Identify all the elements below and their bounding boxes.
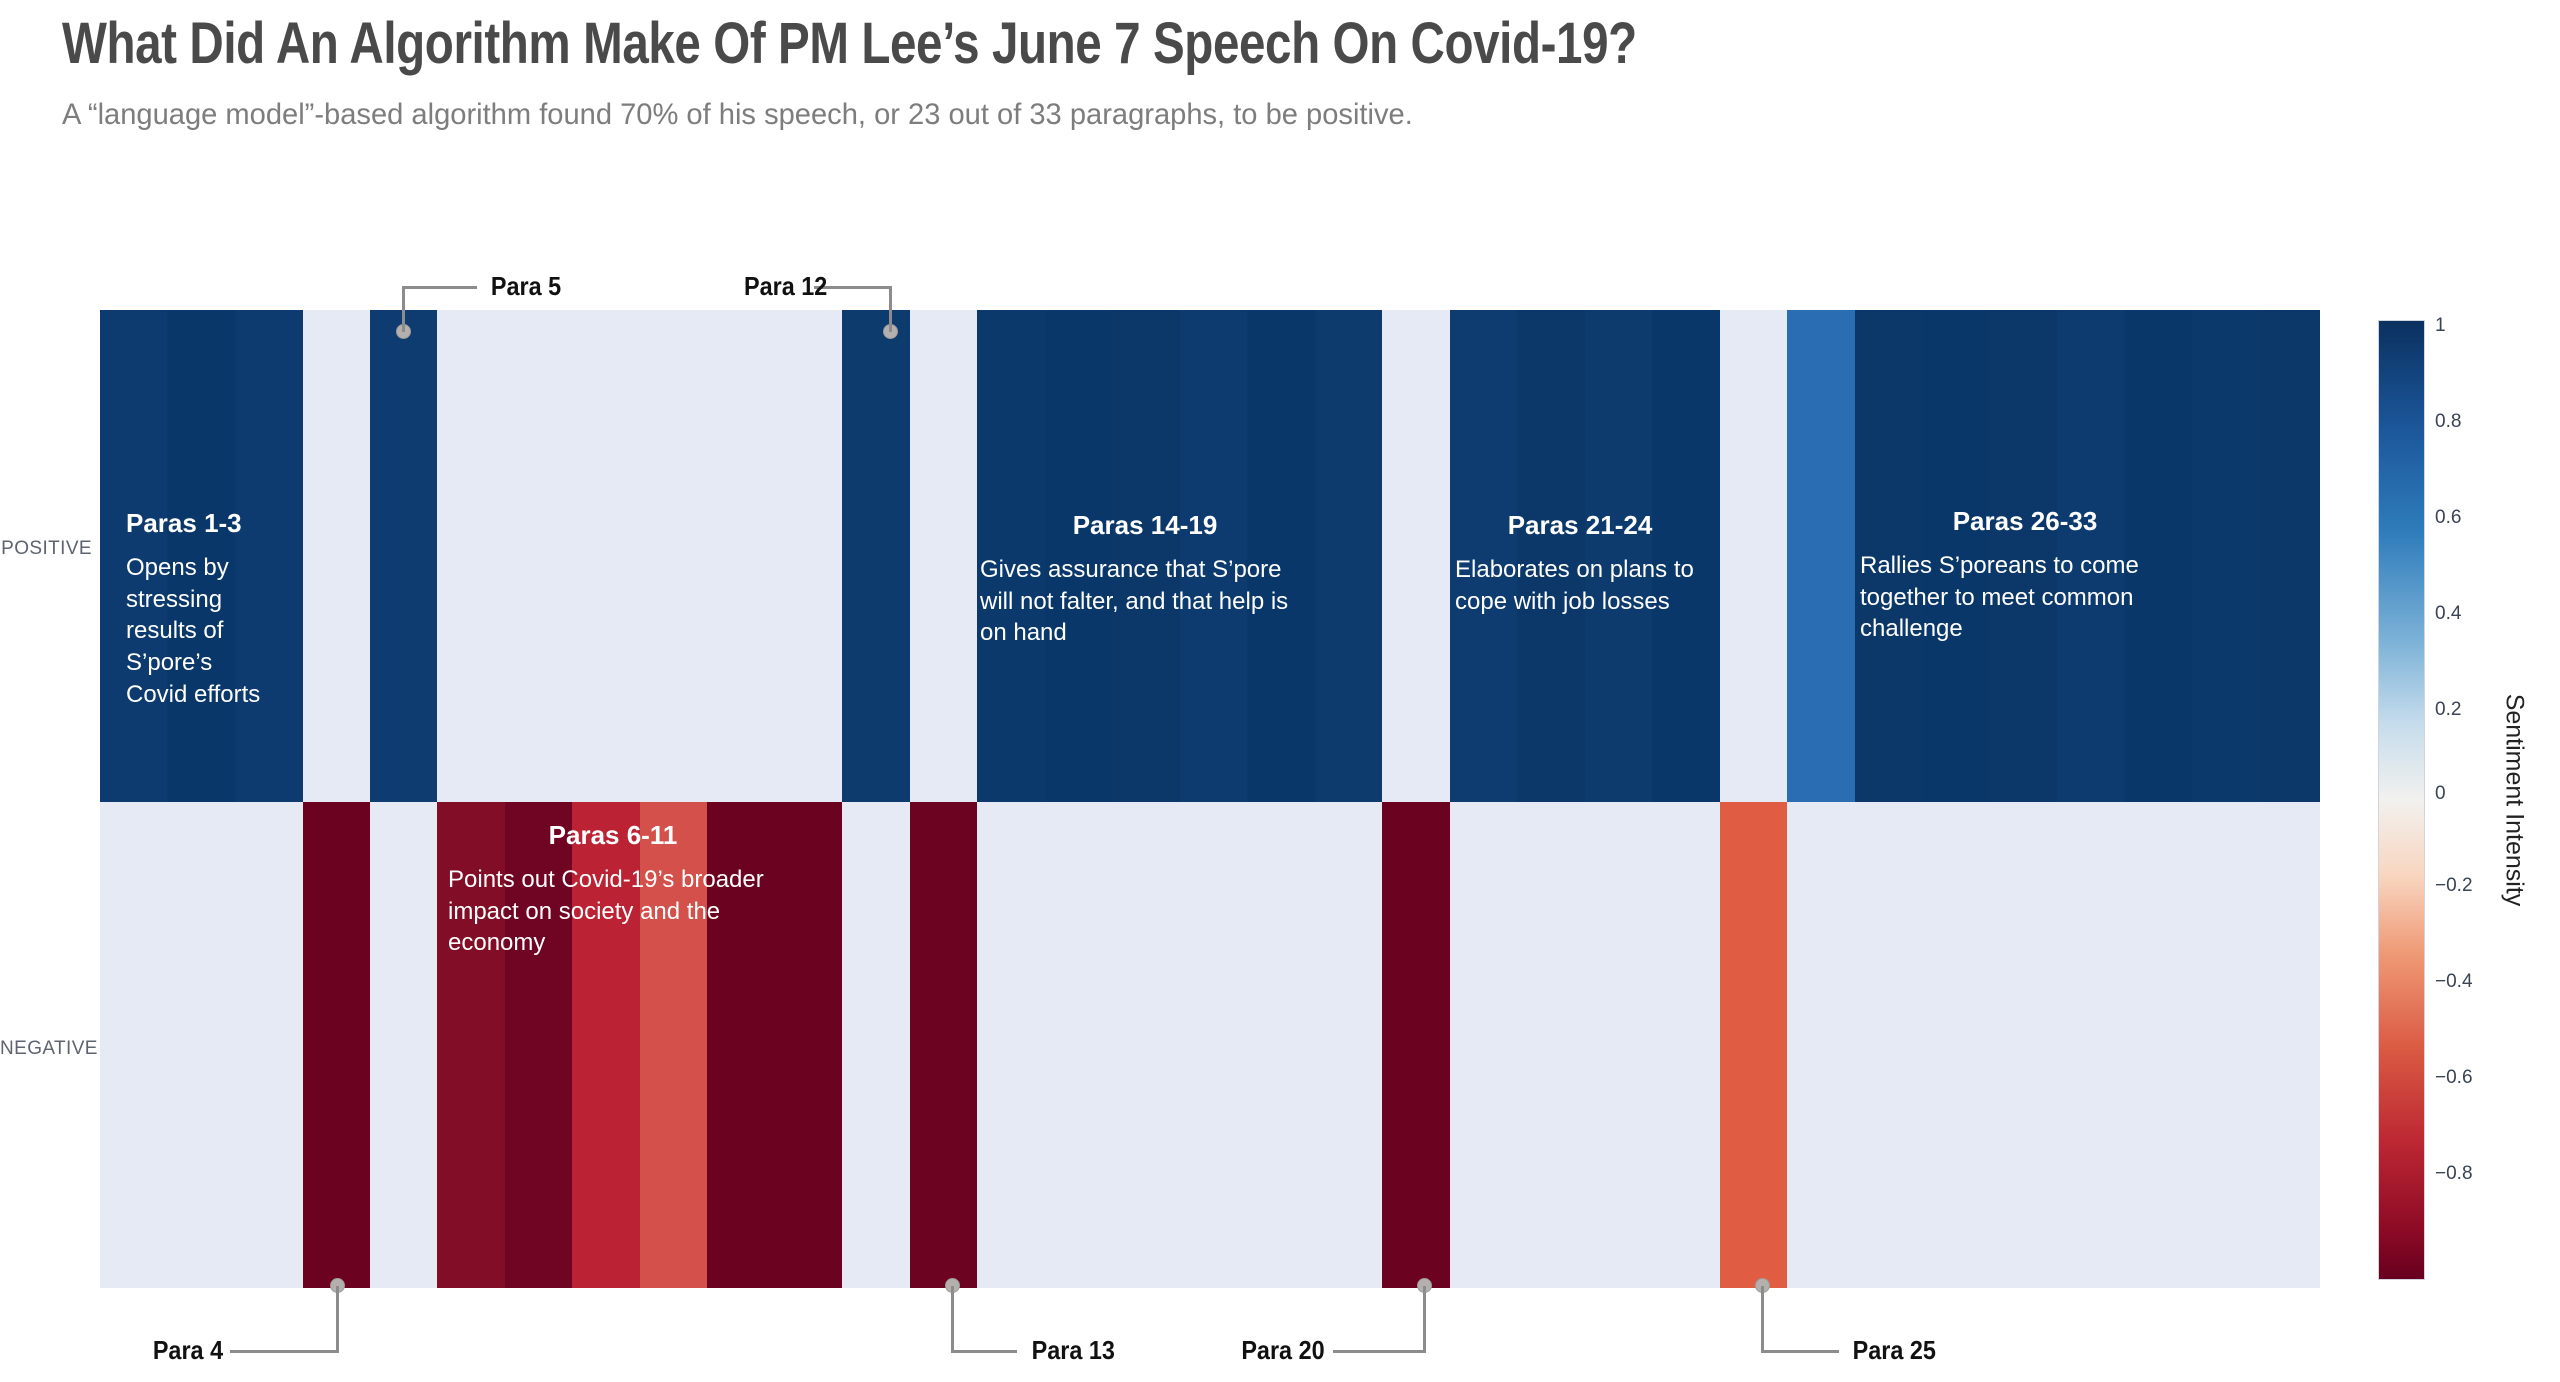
colorbar-tick: −0.4 — [2435, 971, 2473, 993]
heat-cell — [1450, 310, 1517, 802]
heat-cell — [977, 802, 1045, 1288]
callout-leader-h — [402, 286, 477, 289]
heat-cell — [370, 802, 437, 1288]
heat-cell — [2057, 310, 2125, 802]
axis-label-negative: NEGATIVE — [0, 1038, 92, 1060]
heat-cell — [910, 802, 977, 1288]
heat-cell — [235, 310, 303, 802]
heat-cell — [505, 310, 572, 802]
heat-cell — [2192, 802, 2260, 1288]
callout-leader-v — [951, 1286, 954, 1352]
heat-cell — [1855, 310, 1922, 802]
heat-cell — [1652, 310, 1720, 802]
heat-cell — [303, 310, 370, 802]
heat-cell — [437, 310, 505, 802]
heat-cell — [1922, 310, 1990, 802]
heat-cell — [1720, 310, 1787, 802]
sentiment-heatmap: Paras 1-3 Opens by stressing results of … — [100, 310, 2320, 1288]
heat-cell — [1247, 310, 1315, 802]
colorbar-tick: 0 — [2435, 783, 2446, 805]
callout-leader-v — [889, 286, 892, 332]
heat-cell — [1315, 802, 1382, 1288]
callout-leader-h — [1333, 1350, 1426, 1353]
heat-cell — [1450, 802, 1517, 1288]
heat-cell — [1720, 802, 1787, 1288]
heat-cell — [1045, 802, 1112, 1288]
heat-cell — [1787, 310, 1855, 802]
heat-cell — [910, 310, 977, 802]
colorbar-legend: 1 0.8 0.6 0.4 0.2 0 −0.2 −0.4 −0.6 −0.8 … — [2378, 320, 2558, 1280]
heat-cell — [1045, 310, 1112, 802]
colorbar-tick: −0.2 — [2435, 875, 2473, 897]
heat-cell — [1382, 802, 1450, 1288]
heat-cell — [1517, 802, 1585, 1288]
heat-cell — [1990, 802, 2057, 1288]
callout-leader-h — [951, 1350, 1017, 1353]
heat-cell — [1112, 310, 1180, 802]
heat-cell — [167, 802, 235, 1288]
heat-cell — [437, 802, 505, 1288]
heat-cell — [505, 802, 572, 1288]
colorbar-tick: 0.6 — [2435, 507, 2461, 529]
heat-cell — [1247, 802, 1315, 1288]
heat-cell — [1585, 310, 1652, 802]
heat-cell — [2057, 802, 2125, 1288]
callout-label: Para 5 — [491, 271, 561, 302]
heat-cell — [1855, 802, 1922, 1288]
callout-label: Para 12 — [744, 271, 816, 302]
callout-label: Para 20 — [1227, 1335, 1324, 1366]
heat-cell — [572, 310, 640, 802]
heat-cell — [235, 802, 303, 1288]
colorbar-title: Sentiment Intensity — [2500, 694, 2529, 907]
callout-leader-h — [1761, 1350, 1839, 1353]
heat-cell — [1180, 310, 1247, 802]
heat-cell — [1517, 310, 1585, 802]
heat-cell — [707, 310, 775, 802]
heat-cell — [303, 802, 370, 1288]
colorbar-tick: −0.8 — [2435, 1163, 2473, 1185]
axis-label-positive: POSITIVE — [0, 538, 92, 560]
callout-label: Para 25 — [1853, 1335, 1936, 1366]
heat-cell — [1922, 802, 1990, 1288]
callout-label: Para 4 — [135, 1335, 223, 1366]
heat-cell — [167, 310, 235, 802]
colorbar-gradient — [2378, 320, 2425, 1280]
heat-cell — [100, 802, 167, 1288]
page-subtitle: A “language model”-based algorithm found… — [62, 98, 1413, 132]
heat-cell — [842, 310, 910, 802]
heat-cell — [1180, 802, 1247, 1288]
heat-cell — [775, 802, 842, 1288]
colorbar-tick: 0.2 — [2435, 699, 2461, 721]
heat-cell — [2125, 310, 2192, 802]
callout-leader-v — [1761, 1286, 1764, 1352]
heat-cell — [1990, 310, 2057, 802]
colorbar-tick: 0.4 — [2435, 603, 2461, 625]
heat-cell — [2192, 310, 2260, 802]
heat-cell — [2260, 310, 2320, 802]
heat-cell — [842, 802, 910, 1288]
heat-cell — [100, 310, 167, 802]
heat-cell — [1787, 802, 1855, 1288]
heat-cell — [572, 802, 640, 1288]
heat-cell — [640, 310, 707, 802]
heat-cell — [2260, 802, 2320, 1288]
callout-leader-h — [230, 1350, 339, 1353]
heat-cell — [370, 310, 437, 802]
heat-cell — [707, 802, 775, 1288]
colorbar-tick: 1 — [2435, 315, 2446, 337]
heat-cell — [2125, 802, 2192, 1288]
infographic-page: What Did An Algorithm Make Of PM Lee’s J… — [0, 0, 2560, 1382]
heat-cell — [1112, 802, 1180, 1288]
callout-label: Para 13 — [1032, 1335, 1115, 1366]
page-title: What Did An Algorithm Make Of PM Lee’s J… — [62, 10, 1637, 77]
heat-cell — [1652, 802, 1720, 1288]
heat-cell — [977, 310, 1045, 802]
heat-cell — [1315, 310, 1382, 802]
colorbar-tick: −0.6 — [2435, 1067, 2473, 1089]
heat-cell — [640, 802, 707, 1288]
heat-cell — [775, 310, 842, 802]
callout-leader-v — [1423, 1286, 1426, 1352]
colorbar-tick: 0.8 — [2435, 411, 2461, 433]
callout-leader-v — [402, 286, 405, 332]
callout-leader-v — [336, 1286, 339, 1352]
heat-cell — [1585, 802, 1652, 1288]
heat-cell — [1382, 310, 1450, 802]
